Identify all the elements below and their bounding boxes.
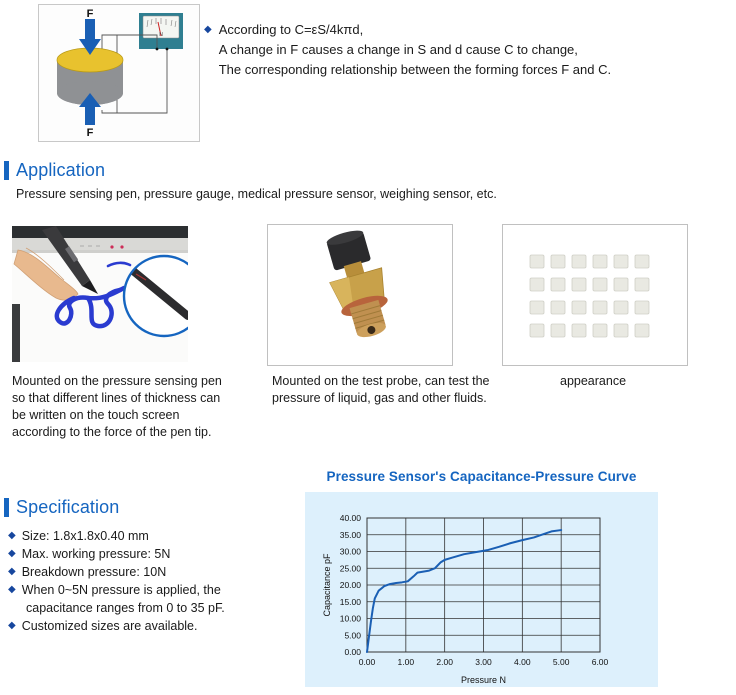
appearance-photo: [502, 224, 688, 366]
application-title: Application: [16, 161, 105, 180]
intro-line-3: The corresponding relationship between t…: [219, 60, 611, 80]
spec-item-label: Max. working pressure: 5N: [22, 545, 171, 563]
force-bottom-label: F: [87, 127, 94, 139]
spec-item: ◆ Customized sizes are available.: [8, 617, 298, 635]
x-axis-label: Pressure N: [461, 675, 506, 685]
spec-item-label: Customized sizes are available.: [22, 617, 198, 635]
x-tick-label: 2.00: [436, 657, 453, 667]
x-tick-label: 6.00: [592, 657, 609, 667]
intro-line-2: A change in F causes a change in S and d…: [219, 40, 611, 60]
force-top-label: F: [87, 8, 94, 20]
x-tick-label: 0.00: [359, 657, 376, 667]
x-tick-label: 4.00: [514, 657, 531, 667]
diamond-bullet-icon: ◆: [8, 545, 16, 563]
pen-caption: Mounted on the pressure sensing pen so t…: [12, 373, 237, 441]
application-description: Pressure sensing pen, pressure gauge, me…: [16, 186, 497, 203]
y-tick-label: 10.00: [340, 614, 362, 624]
section-accent-bar: [4, 498, 9, 517]
y-tick-label: 0.00: [344, 647, 361, 657]
y-tick-label: 30.00: [340, 547, 362, 557]
probe-photo-svg: [268, 225, 450, 363]
y-axis-label: Capacitance pF: [322, 553, 332, 617]
test-probe-photo: [267, 224, 453, 366]
chart-title: Pressure Sensor's Capacitance-Pressure C…: [305, 469, 658, 484]
specification-title: Specification: [16, 498, 119, 517]
pressure-sensing-pen-photo: [12, 226, 188, 362]
application-section-header: Application: [4, 161, 105, 180]
x-tick-label: 3.00: [475, 657, 492, 667]
diamond-bullet-icon: ◆: [8, 563, 16, 581]
spec-item: ◆ Breakdown pressure: 10N: [8, 563, 298, 581]
appearance-grid-svg: [503, 225, 685, 363]
diamond-bullet-icon: ◆: [8, 617, 16, 635]
y-tick-label: 20.00: [340, 580, 362, 590]
y-tick-label: 15.00: [340, 597, 362, 607]
x-tick-label: 1.00: [398, 657, 415, 667]
spec-item-label: Size: 1.8x1.8x0.40 mm: [22, 527, 149, 545]
intro-bullet-block: ◆ According to C=εS/4kπd, A change in F …: [204, 20, 724, 80]
diamond-bullet-icon: ◆: [8, 581, 16, 599]
spec-item: ◆ Size: 1.8x1.8x0.40 mm: [8, 527, 298, 545]
probe-caption: Mounted on the test probe, can test the …: [272, 373, 502, 407]
force-diagram-svg: N F F: [39, 5, 197, 139]
capacitance-pressure-chart-panel: 0.005.0010.0015.0020.0025.0030.0035.0040…: [305, 492, 658, 687]
diamond-bullet-icon: ◆: [204, 20, 212, 40]
diamond-bullet-icon: ◆: [8, 527, 16, 545]
pen-photo-svg: [12, 226, 188, 362]
appearance-caption: appearance: [560, 373, 700, 390]
y-tick-label: 40.00: [340, 513, 362, 523]
intro-line-1: According to C=εS/4kπd,: [219, 20, 611, 40]
y-tick-label: 35.00: [340, 530, 362, 540]
capacitance-pressure-chart-svg: 0.005.0010.0015.0020.0025.0030.0035.0040…: [305, 492, 658, 687]
spec-item: ◆ Max. working pressure: 5N: [8, 545, 298, 563]
svg-text:N: N: [159, 32, 163, 38]
spec-item: ◆ When 0~5N pressure is applied, the: [8, 581, 298, 599]
y-tick-label: 25.00: [340, 563, 362, 573]
x-tick-label: 5.00: [553, 657, 570, 667]
spec-item-continuation: capacitance ranges from 0 to 35 pF.: [8, 599, 298, 617]
specification-list: ◆ Size: 1.8x1.8x0.40 mm ◆ Max. working p…: [8, 527, 298, 635]
section-accent-bar: [4, 161, 9, 180]
specification-section-header: Specification: [4, 498, 119, 517]
spec-item-label: When 0~5N pressure is applied, the: [22, 581, 221, 599]
intro-lines: According to C=εS/4kπd, A change in F ca…: [219, 20, 611, 80]
spec-item-label: Breakdown pressure: 10N: [22, 563, 167, 581]
y-tick-label: 5.00: [344, 630, 361, 640]
force-capacitance-diagram-panel: N F F: [38, 4, 200, 142]
datasheet-page: N F F: [0, 0, 736, 695]
